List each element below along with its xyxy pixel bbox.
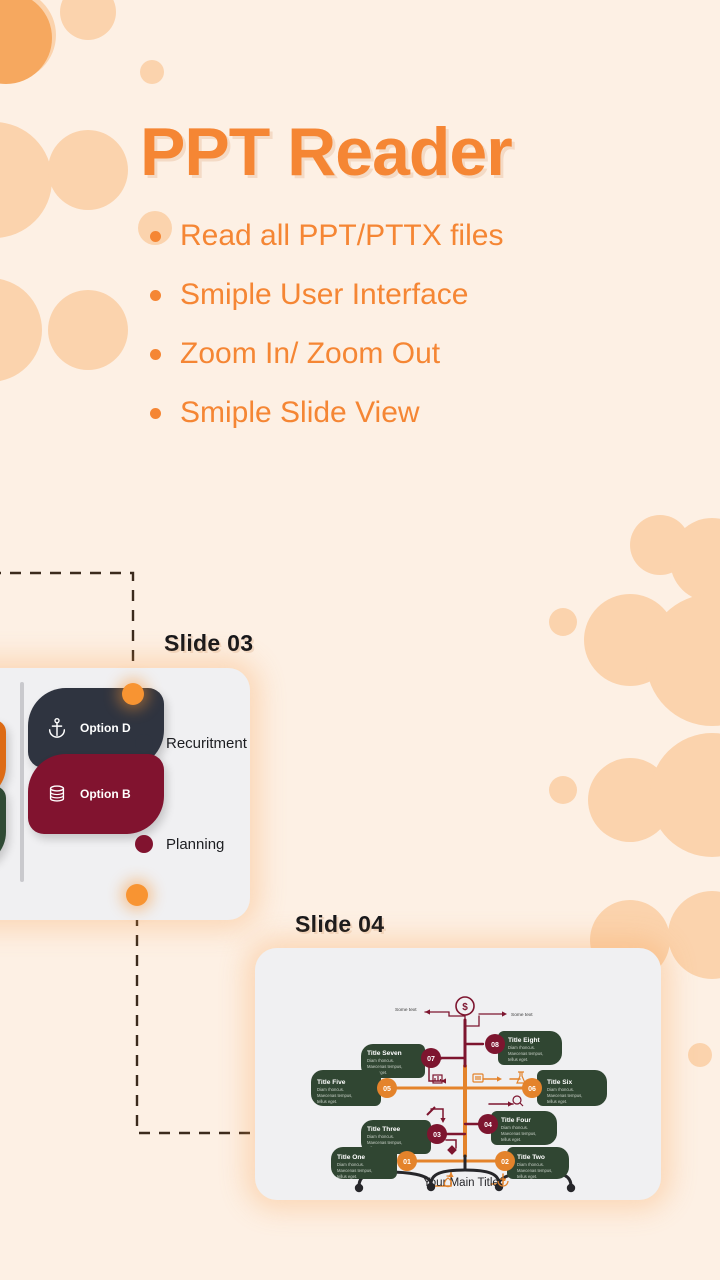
node-07-title: Title Seven	[367, 1050, 402, 1057]
svg-text:Diam rhoncus.: Diam rhoncus.	[317, 1087, 344, 1092]
leaf-option-d-label: Option D	[80, 721, 131, 735]
pen-icon	[427, 1107, 435, 1115]
search-icon	[513, 1096, 523, 1106]
node-03-number: 03	[433, 1132, 441, 1139]
database-icon	[46, 783, 68, 805]
tree-node-02[interactable]: Title Two Diam rhoncus. Maecenas tempus,…	[495, 1147, 569, 1179]
slide-04-label: Slide 04	[295, 911, 384, 938]
svg-text:Diam rhoncus.: Diam rhoncus.	[501, 1125, 528, 1130]
gem-icon	[448, 1146, 456, 1154]
svg-text:tellus eget.: tellus eget.	[547, 1099, 567, 1104]
node-06-number: 06	[528, 1086, 536, 1093]
node-08-body: Diam rhoncus.	[508, 1045, 535, 1050]
legend-item-planning: Planning	[135, 835, 224, 853]
svg-text:Maecenas tempus,: Maecenas tempus,	[501, 1131, 536, 1136]
svg-text:Maecenas tempus,: Maecenas tempus,	[367, 1140, 402, 1145]
tree-node-08[interactable]: Title Eight Diam rhoncus. Maecenas tempu…	[485, 1031, 562, 1065]
legend-dot-icon	[135, 734, 153, 752]
slide-04-card[interactable]: Your Main Title $ Some text Some text	[255, 948, 661, 1200]
connector-node-top[interactable]	[122, 683, 144, 705]
svg-text:Maecenas tempus,: Maecenas tempus,	[547, 1093, 582, 1098]
node-03-title: Title Three	[367, 1126, 401, 1133]
leaf-option-b-label: Option B	[80, 787, 131, 801]
legend-recruitment-label: Recuritment	[166, 735, 247, 752]
legend-item-recruitment: Recuritment	[135, 734, 247, 752]
svg-text:tellus eget.: tellus eget.	[501, 1137, 521, 1142]
node-02-number: 02	[501, 1159, 509, 1166]
node-02-title: Title Two	[517, 1154, 545, 1161]
dollar-circle-icon: $	[456, 997, 474, 1015]
leaf-option-c[interactable]	[0, 786, 6, 866]
chart-icon	[433, 1075, 442, 1083]
legend-dot-icon	[135, 835, 153, 853]
node-08-number: 08	[491, 1042, 499, 1049]
tree-node-06[interactable]: Title Six Diam rhoncus. Maecenas tempus,…	[522, 1070, 607, 1106]
svg-text:Diam rhoncus.: Diam rhoncus.	[547, 1087, 574, 1092]
node-01-title: Title One	[337, 1154, 365, 1161]
tree-diagram: Your Main Title $ Some text Some text	[255, 948, 661, 1200]
svg-text:Maecenas tempus,: Maecenas tempus,	[337, 1168, 372, 1173]
svg-text:Diam rhoncus.: Diam rhoncus.	[517, 1162, 544, 1167]
svg-text:tellus eget.: tellus eget.	[337, 1174, 357, 1179]
legend-planning-label: Planning	[166, 836, 224, 853]
svg-text:Maecenas tempus,: Maecenas tempus,	[517, 1168, 552, 1173]
svg-text:Maecenas tempus,: Maecenas tempus,	[508, 1051, 543, 1056]
node-04-title: Title Four	[501, 1117, 531, 1124]
node-06-title: Title Six	[547, 1079, 572, 1086]
svg-text:tellus eget.: tellus eget.	[508, 1057, 528, 1062]
svg-text:tellus eget.: tellus eget.	[517, 1174, 537, 1179]
svg-text:Maecenas tempus,: Maecenas tempus,	[317, 1093, 352, 1098]
leaf-option-b[interactable]: Option B	[28, 754, 164, 834]
svg-text:Diam rhoncus.: Diam rhoncus.	[367, 1134, 394, 1139]
monitor-icon	[473, 1074, 483, 1082]
node-08-title: Title Eight	[508, 1037, 541, 1044]
annotation-right: Some text	[511, 1012, 533, 1018]
anchor-icon	[46, 717, 68, 739]
main-title-text: Your Main Title	[423, 1177, 499, 1189]
node-05-title: Title Five	[317, 1079, 346, 1086]
flask-icon	[517, 1072, 525, 1083]
svg-text:Diam rhoncus.: Diam rhoncus.	[337, 1162, 364, 1167]
node-07-number: 07	[427, 1056, 435, 1063]
slide-03-label: Slide 03	[164, 630, 253, 657]
node-04-number: 04	[484, 1122, 492, 1129]
tree-node-04[interactable]: Title Four Diam rhoncus. Maecenas tempus…	[478, 1111, 557, 1145]
connector-node-middle[interactable]	[126, 884, 148, 906]
slide-03-card[interactable]: $ Option D Option B	[0, 668, 250, 920]
node-01-number: 01	[403, 1159, 411, 1166]
annotation-left: Some text	[395, 1007, 417, 1013]
node-05-number: 05	[383, 1086, 391, 1093]
svg-text:Diam rhoncus.: Diam rhoncus.	[367, 1058, 394, 1063]
leaf-spine-divider	[20, 682, 24, 882]
svg-text:tellus eget.: tellus eget.	[317, 1099, 337, 1104]
svg-text:Maecenas tempus,: Maecenas tempus,	[367, 1064, 402, 1069]
svg-text:$: $	[462, 1002, 468, 1013]
tree-node-01[interactable]: Title One Diam rhoncus. Maecenas tempus,…	[331, 1147, 417, 1179]
